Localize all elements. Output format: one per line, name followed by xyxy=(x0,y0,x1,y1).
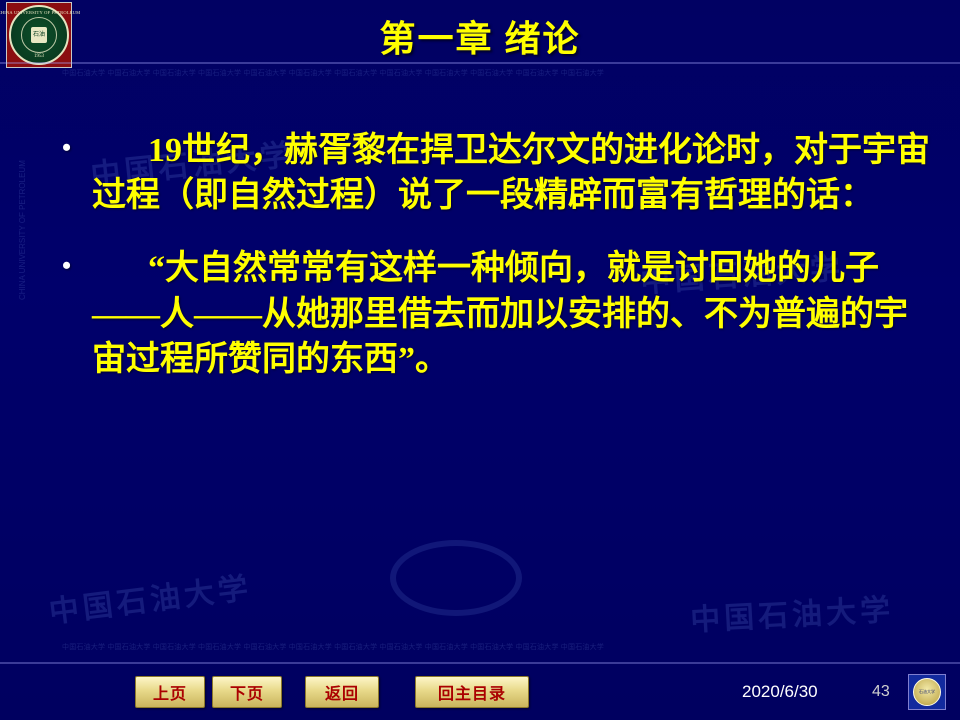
slide-content: • 19世纪，赫胥黎在捍卫达尔文的进化论时，对于宇宙过程（即自然过程）说了一段精… xyxy=(40,128,930,398)
paragraph-1-lead-number: 19 xyxy=(148,132,182,169)
footer-page-number: 43 xyxy=(872,683,890,701)
nav-prev-page-button[interactable]: 上页 xyxy=(135,676,205,708)
header-divider xyxy=(0,62,960,64)
bullet-icon-2: • xyxy=(62,248,71,284)
footer-date: 2020/6/30 xyxy=(742,682,818,702)
footer-divider xyxy=(0,662,960,664)
watermark-large-3: 中国石油大学 xyxy=(46,563,254,632)
slide-footer: 上页 下页 返回 回主目录 2020/6/30 43 石油大学 xyxy=(0,662,960,720)
page-title: 第一章 绪论 xyxy=(0,10,960,62)
footer-logo: 石油大学 xyxy=(908,674,946,710)
paragraph-1-text: 世纪，赫胥黎在捍卫达尔文的进化论时，对于宇宙过程（即自然过程）说了一段精辟而富有… xyxy=(92,132,930,214)
nav-main-menu-button[interactable]: 回主目录 xyxy=(415,676,529,708)
watermark-side-strip: CHINA UNIVERSITY OF PETROLEUM xyxy=(18,160,27,300)
paragraph-2-text: “大自然常常有这样一种倾向，就是讨回她的儿子——人——从她那里借去而加以安排的、… xyxy=(92,250,908,377)
nav-next-page-button[interactable]: 下页 xyxy=(212,676,282,708)
slide-header: CHINA UNIVERSITY OF PETROLEUM 石油 1953 第一… xyxy=(0,0,960,62)
slide: 中国石油大学 中国石油大学 中国石油大学 中国石油大学 中国石油大学 中国石油大… xyxy=(0,0,960,720)
bullet-paragraph-1: • 19世纪，赫胥黎在捍卫达尔文的进化论时，对于宇宙过程（即自然过程）说了一段精… xyxy=(40,128,930,218)
watermark-bottom-strip: 中国石油大学 中国石油大学 中国石油大学 中国石油大学 中国石油大学 中国石油大… xyxy=(62,642,604,652)
bullet-icon-1: • xyxy=(62,130,71,166)
watermark-large-4: 中国石油大学 xyxy=(689,585,895,640)
watermark-ring-decoration xyxy=(390,540,522,616)
nav-back-button[interactable]: 返回 xyxy=(305,676,379,708)
bullet-paragraph-2: • “大自然常常有这样一种倾向，就是讨回她的儿子——人——从她那里借去而加以安排… xyxy=(40,246,930,382)
footer-seal-icon: 石油大学 xyxy=(913,678,941,706)
watermark-top-strip: 中国石油大学 中国石油大学 中国石油大学 中国石油大学 中国石油大学 中国石油大… xyxy=(62,68,604,78)
